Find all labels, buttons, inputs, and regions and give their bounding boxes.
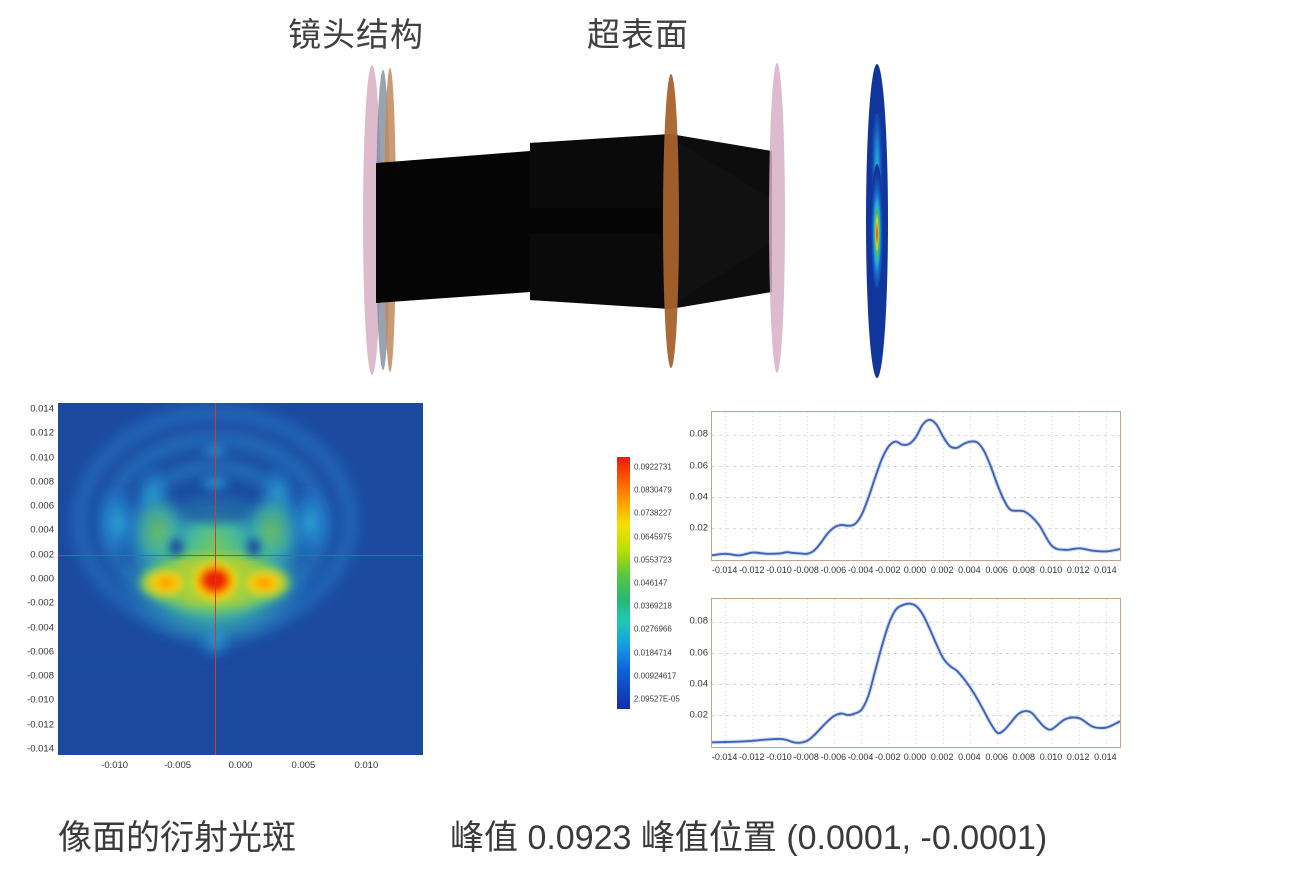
heatmap-x-tick: -0.005	[164, 760, 191, 771]
plot-y-tick: 0.06	[668, 647, 708, 658]
plot-x-y-axis: 0.020.040.060.08	[668, 411, 708, 559]
plot-x-tick: -0.008	[793, 752, 819, 762]
plot-x-tick: 0.008	[1013, 565, 1036, 575]
plot-x-tick: 0.010	[1040, 565, 1063, 575]
plot-y-tick: 0.04	[668, 491, 708, 502]
plot-x-tick: -0.012	[739, 565, 765, 575]
plot-line-halo	[712, 604, 1120, 743]
heatmap-x-tick: -0.010	[101, 760, 128, 771]
plot-x-tick: -0.004	[848, 752, 874, 762]
cross-section-plot-x	[711, 411, 1121, 561]
plot-y-x-axis: -0.014-0.012-0.010-0.008-0.006-0.004-0.0…	[711, 752, 1119, 768]
heatmap-x-tick: 0.000	[229, 760, 253, 771]
plot-y-tick: 0.08	[668, 616, 708, 627]
plot-y-tick: 0.02	[668, 709, 708, 720]
colorbar-tick: 0.0184714	[634, 648, 672, 657]
caption-peak-info: 峰值 0.0923 峰值位置 (0.0001, -0.0001)	[450, 810, 1047, 859]
plot-x-tick: -0.010	[766, 565, 792, 575]
plot-x-tick: -0.014	[712, 752, 738, 762]
diffraction-heatmap-panel: 0.0140.0120.0100.0080.0060.0040.0020.000…	[18, 398, 438, 783]
heatmap-y-tick: 0.010	[30, 452, 54, 463]
colorbar-tick: 0.0738227	[634, 509, 672, 518]
plot-x-tick: -0.006	[821, 565, 847, 575]
plot-x-tick: 0.006	[985, 565, 1008, 575]
heatmap-image	[58, 403, 423, 755]
plot-y-y-axis: 0.020.040.060.08	[668, 598, 708, 746]
plot-x-tick: 0.002	[931, 752, 954, 762]
colorbar-tick: 0.0830479	[634, 486, 672, 495]
heatmap-x-axis: -0.010-0.0050.0000.0050.010	[58, 760, 423, 778]
plot-x-tick: 0.004	[958, 565, 981, 575]
heatmap-y-tick: 0.008	[30, 476, 54, 487]
plot-y-svg	[712, 599, 1120, 747]
heatmap-y-tick: 0.004	[30, 525, 54, 536]
colorbar-tick: 0.0922731	[634, 463, 672, 472]
heatmap-y-tick: 0.012	[30, 428, 54, 439]
colorbar-tick: 0.046147	[634, 579, 667, 588]
plot-y-tick: 0.04	[668, 678, 708, 689]
plot-x-tick: 0.006	[985, 752, 1008, 762]
plot-x-tick: 0.004	[958, 752, 981, 762]
plot-x-tick: 0.000	[904, 752, 927, 762]
plot-x-tick: -0.004	[848, 565, 874, 575]
plot-y-tick: 0.08	[668, 429, 708, 440]
plot-x-tick: 0.014	[1094, 752, 1117, 762]
optical-raytrace-diagram	[340, 58, 910, 383]
spot-diagram-core	[871, 164, 883, 288]
heatmap-y-tick: -0.010	[27, 695, 54, 706]
crosshair-vertical	[215, 403, 216, 755]
heatmap-y-axis: 0.0140.0120.0100.0080.0060.0040.0020.000…	[18, 403, 54, 755]
plot-x-tick: -0.002	[875, 565, 901, 575]
heatmap-y-tick: -0.006	[27, 646, 54, 657]
colorbar-tick: 0.0645975	[634, 532, 672, 541]
heatmap-y-tick: -0.012	[27, 719, 54, 730]
plot-x-x-axis: -0.014-0.012-0.010-0.008-0.006-0.004-0.0…	[711, 565, 1119, 581]
plot-line-halo	[712, 420, 1120, 556]
label-metasurface: 超表面	[587, 8, 689, 56]
colorbar-gradient	[617, 457, 630, 709]
heatmap-x-tick: 0.005	[292, 760, 316, 771]
colorbar-tick: 0.0369218	[634, 602, 672, 611]
plot-y-tick: 0.02	[668, 522, 708, 533]
heatmap-y-tick: 0.014	[30, 404, 54, 415]
cross-section-plot-y	[711, 598, 1121, 748]
heatmap-y-tick: 0.006	[30, 501, 54, 512]
label-lens-structure: 镜头结构	[288, 8, 424, 56]
heatmap-y-tick: -0.002	[27, 598, 54, 609]
plot-x-svg	[712, 412, 1120, 560]
plot-x-tick: -0.012	[739, 752, 765, 762]
heatmap-field	[58, 403, 423, 755]
plot-x-tick: -0.002	[875, 752, 901, 762]
raytrace-svg	[340, 58, 910, 383]
plot-x-tick: 0.012	[1067, 565, 1090, 575]
plot-x-tick: -0.010	[766, 752, 792, 762]
heatmap-x-tick: 0.010	[354, 760, 378, 771]
heatmap-y-tick: -0.004	[27, 622, 54, 633]
plot-x-tick: -0.008	[793, 565, 819, 575]
heatmap-y-tick: 0.002	[30, 549, 54, 560]
plot-x-tick: 0.000	[904, 565, 927, 575]
plot-x-tick: -0.014	[712, 565, 738, 575]
plot-y-tick: 0.06	[668, 460, 708, 471]
colorbar-tick: 0.0276966	[634, 625, 672, 634]
plot-x-tick: 0.014	[1094, 565, 1117, 575]
heatmap-y-tick: -0.008	[27, 671, 54, 682]
heatmap-y-tick: -0.014	[27, 743, 54, 754]
plot-x-tick: -0.006	[821, 752, 847, 762]
heatmap-y-tick: 0.000	[30, 574, 54, 585]
plot-x-tick: 0.010	[1040, 752, 1063, 762]
plot-x-tick: 0.002	[931, 565, 954, 575]
plot-x-tick: 0.008	[1013, 752, 1036, 762]
caption-diffraction-spot: 像面的衍射光斑	[58, 810, 296, 859]
plot-x-tick: 0.012	[1067, 752, 1090, 762]
crosshair-horizontal	[58, 555, 423, 556]
metasurface-element-glyph	[663, 74, 679, 368]
colorbar-tick: 0.0553723	[634, 555, 672, 564]
image-plane-glyph	[769, 63, 785, 373]
